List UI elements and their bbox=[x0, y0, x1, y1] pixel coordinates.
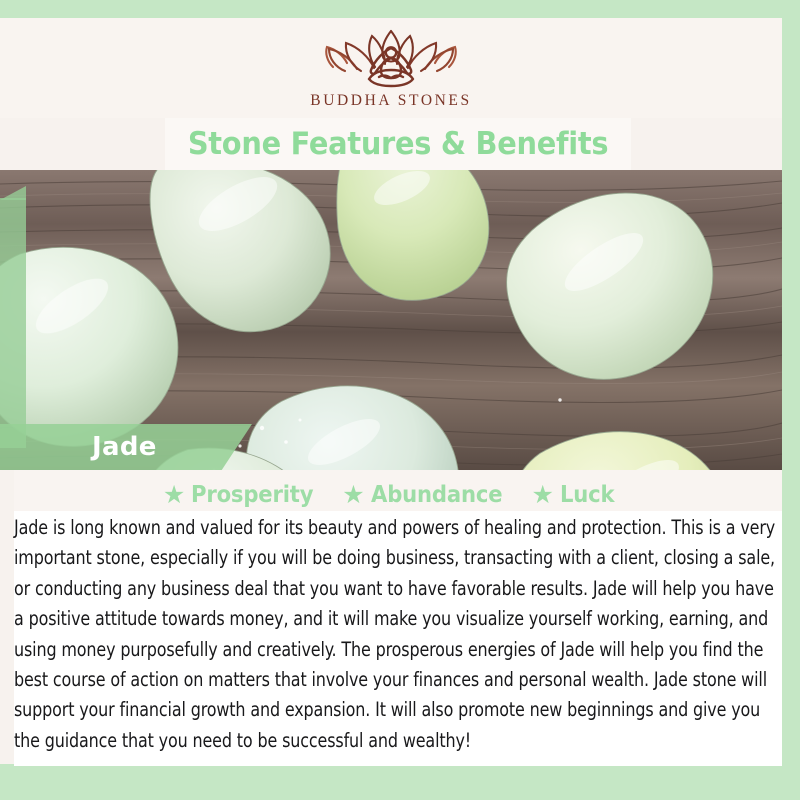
stone-name-label: Jade bbox=[92, 432, 157, 462]
page-title: Stone Features & Benefits bbox=[188, 126, 608, 162]
star-icon: ★ bbox=[342, 483, 364, 508]
stone-name-badge: Jade bbox=[0, 424, 252, 470]
photo-accent-strip bbox=[0, 198, 26, 448]
star-icon: ★ bbox=[532, 483, 554, 508]
benefit-label: Abundance bbox=[371, 482, 502, 508]
benefit-item-luck: ★ Luck bbox=[532, 482, 620, 508]
section-title-banner: Stone Features & Benefits bbox=[165, 118, 631, 170]
description-text: Jade is long known and valued for its be… bbox=[14, 513, 782, 756]
brand-header: BUDDHA STONES bbox=[0, 18, 782, 118]
description-block: Jade is long known and valued for its be… bbox=[14, 511, 782, 762]
benefit-label: Prosperity bbox=[191, 482, 313, 508]
benefits-row: ★ Prosperity ★ Abundance ★ Luck bbox=[0, 478, 782, 512]
star-icon: ★ bbox=[163, 483, 185, 508]
benefit-label: Luck bbox=[560, 482, 614, 508]
benefit-item-abundance: ★ Abundance bbox=[342, 482, 513, 508]
lotus-meditation-icon bbox=[321, 27, 461, 89]
benefit-item-prosperity: ★ Prosperity bbox=[163, 482, 324, 508]
brand-logo: BUDDHA STONES bbox=[310, 27, 471, 110]
brand-name: BUDDHA STONES bbox=[310, 92, 471, 110]
